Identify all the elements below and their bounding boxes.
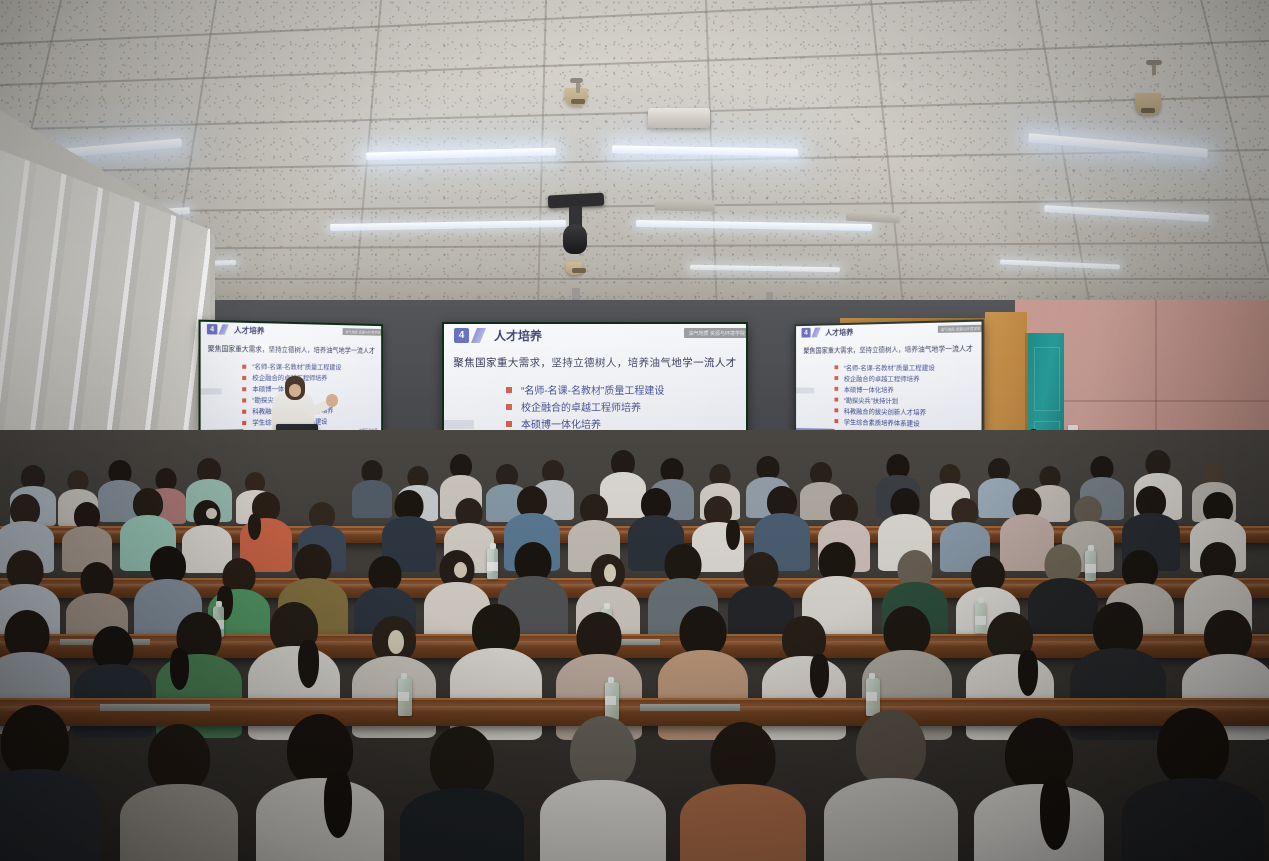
ponytail — [810, 654, 829, 698]
presenter-face — [289, 384, 301, 397]
bullet-item: “名师-名课-名教材”质量工程建设 — [835, 361, 935, 373]
bullet-item: 校企融合的卓越工程师培养 — [506, 398, 664, 415]
person-head — [430, 726, 494, 796]
bullet-marker — [242, 375, 246, 379]
person-torso — [974, 784, 1104, 861]
bullet-text: 校企融合的卓越工程师培养 — [844, 372, 920, 382]
bullet-marker — [506, 387, 512, 393]
slide-subtitle: 聚焦国家重大需求，坚持立德树人，培养油气地学一流人才 — [444, 355, 746, 370]
door-panel — [1034, 347, 1060, 411]
slide-header-title: 人才培养 — [825, 326, 853, 337]
slide-right: 4 人才培养 油气地质 资源与环境学院 聚焦国家重大需求，坚持立德树人，培养油气… — [796, 322, 981, 439]
bullet-text: 科教融合的拔尖创新人才培养 — [844, 405, 926, 416]
header-slash-decor — [218, 324, 228, 334]
bullet-marker — [242, 364, 246, 368]
person-torso — [1122, 778, 1264, 861]
slide-header: 4 人才培养 油气地质 资源与环境学院 — [201, 322, 382, 340]
slide-bullet-list: “名师-名课-名教材”质量工程建设 校企融合的卓越工程师培养 本硕博一体化培养 … — [835, 361, 935, 428]
ceiling-vent — [655, 199, 715, 211]
bullet-item: “名师-名课-名教材”质量工程建设 — [242, 361, 341, 373]
person-head — [148, 724, 210, 792]
person-torso — [256, 778, 384, 861]
bullet-marker — [835, 376, 839, 380]
header-slash-decor — [471, 328, 486, 343]
ceiling-speaker — [648, 108, 710, 128]
person-head — [711, 722, 776, 792]
slide-header-title: 人才培养 — [494, 327, 542, 344]
sprinkler-head — [1146, 60, 1162, 65]
projection-screen-right: 4 人才培养 油气地质 资源与环境学院 聚焦国家重大需求，坚持立德树人，培养油气… — [794, 319, 983, 440]
slide-subtitle: 聚焦国家重大需求，坚持立德树人，培养油气地学一流人才 — [796, 342, 981, 355]
slide-side-chip — [444, 420, 474, 429]
slide-side-chip — [796, 388, 814, 394]
bullet-marker — [835, 386, 839, 390]
person-head — [1157, 708, 1229, 786]
audience-seating — [0, 430, 1269, 861]
audience-member — [256, 714, 384, 861]
header-slash-decor — [811, 328, 820, 338]
slide-header: 4 人才培养 油气地质 资源与环境学院 — [796, 322, 981, 340]
audience-member — [824, 710, 958, 861]
bullet-text: “名师-名课-名教材”质量工程建设 — [521, 382, 664, 397]
person-torso — [680, 784, 806, 861]
bullet-marker — [242, 398, 246, 402]
audience-member — [680, 722, 806, 861]
lecture-hall-photo: 4 人才培养 油气地质 资源与环境学院 聚焦国家重大需求，坚持立德树人，培养油气… — [0, 0, 1269, 861]
person-torso — [400, 788, 524, 861]
bullet-marker — [835, 397, 839, 401]
bullet-text: 本硕博一体化培养 — [844, 383, 894, 393]
audience-member — [400, 726, 524, 861]
ponytail — [298, 640, 319, 688]
slide-header-chip: 油气地质 资源与环境学院 — [342, 328, 381, 336]
hair-clip-icon — [206, 508, 217, 519]
audience-member — [974, 718, 1104, 861]
slide-subtitle: 聚焦国家重大需求，坚持立德树人，培养油气地学一流人才 — [201, 343, 382, 355]
ponytail — [1040, 776, 1070, 850]
person-torso — [0, 769, 100, 861]
slide-header-chip: 油气地质 资源与环境学院 — [938, 325, 982, 333]
person-head — [856, 710, 926, 786]
bullet-text: 校企融合的卓越工程师培养 — [521, 399, 641, 414]
smoke-detector-icon — [1135, 93, 1161, 115]
bullet-marker — [506, 421, 512, 427]
bullet-marker — [835, 365, 839, 369]
person-torso — [540, 780, 666, 861]
slide-header: 4 人才培养 油气地质 资源与环境学院 — [444, 324, 746, 346]
audience-member — [1122, 708, 1264, 861]
slide-header-title: 人才培养 — [234, 324, 264, 336]
bullet-marker — [506, 404, 512, 410]
slide-side-chip — [201, 388, 222, 394]
bullet-item: 校企融合的卓越工程师培养 — [835, 372, 935, 383]
hair-clip-icon — [454, 562, 467, 578]
bullet-marker — [242, 420, 246, 424]
bullet-item: 学生综合素质培养体系建设 — [835, 415, 935, 428]
bullet-item: 本硕博一体化培养 — [835, 383, 935, 394]
ponytail — [1018, 650, 1038, 696]
desk-surface — [640, 704, 740, 711]
bullet-marker — [242, 409, 246, 413]
person-head — [1, 705, 69, 779]
audience-member — [540, 716, 666, 861]
audience-member — [62, 502, 112, 570]
bullet-text: “名师-名课-名教材”质量工程建设 — [844, 361, 935, 372]
bullet-text: “名师-名课-名教材”质量工程建设 — [252, 362, 341, 371]
sprinkler-head — [570, 78, 583, 83]
ponytail — [726, 520, 740, 550]
ceiling-camera-icon — [563, 224, 587, 254]
slide-badge-number: 4 — [207, 324, 217, 335]
hair-clip-icon — [604, 564, 616, 582]
person-torso — [120, 784, 238, 861]
bullet-text: 本硕博一体化培养 — [521, 416, 601, 431]
bullet-marker — [242, 387, 246, 391]
bullet-text: “勘探尖兵”扶持计划 — [844, 394, 898, 404]
bullet-text: 学生综合素质培养体系建设 — [844, 416, 920, 427]
bullet-item: “名师-名课-名教材”质量工程建设 — [506, 381, 664, 398]
person-head — [570, 716, 636, 788]
bullet-marker — [835, 408, 839, 412]
water-bottle — [398, 678, 412, 716]
audience-member — [120, 724, 238, 861]
smoke-detector-icon — [566, 262, 582, 275]
slide-header-chip: 油气地质 资源与环境学院 — [684, 328, 746, 338]
person-torso — [824, 778, 958, 861]
audience-member — [0, 705, 100, 861]
presenter-hand — [326, 394, 338, 407]
slide-badge-number: 4 — [454, 328, 469, 343]
ponytail — [170, 648, 189, 690]
ponytail — [324, 770, 352, 838]
desk-surface — [100, 704, 210, 711]
hair-clip-icon — [388, 630, 404, 654]
slide-badge-number: 4 — [801, 328, 810, 338]
ponytail — [248, 514, 261, 540]
water-bottle — [605, 682, 619, 720]
bullet-item: “勘探尖兵”扶持计划 — [835, 394, 935, 406]
bullet-marker — [835, 419, 839, 423]
